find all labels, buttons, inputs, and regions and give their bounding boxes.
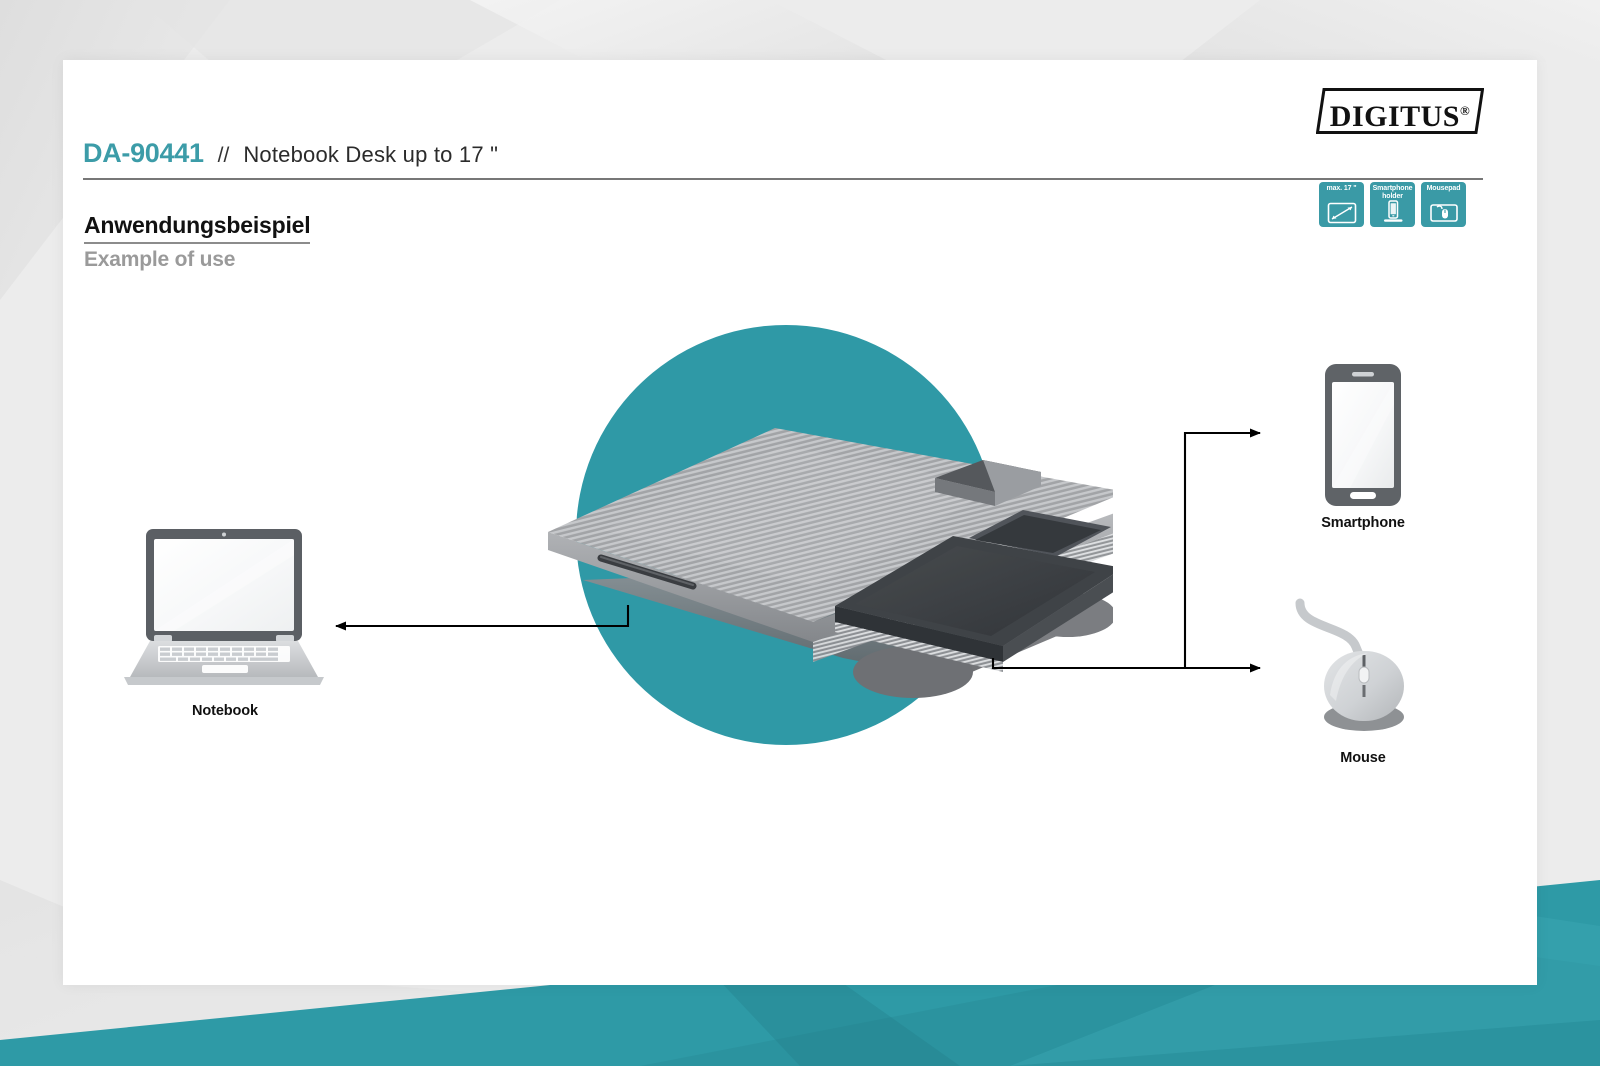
- product-code: DA-90441: [83, 138, 204, 169]
- caption-notebook: Notebook: [110, 703, 340, 719]
- caption-mouse: Mouse: [1278, 750, 1448, 766]
- device-notebook: Notebook: [110, 525, 340, 725]
- smartphone-holder-icon: [1370, 198, 1415, 224]
- section-heading-en: Example of use: [84, 248, 235, 272]
- product-image: [483, 410, 1113, 700]
- bg-facet-top-right: [1180, 0, 1600, 62]
- slide-page: DIGITUS® DA-90441 // Notebook Desk up to…: [0, 0, 1600, 1066]
- smartphone-icon: [1288, 360, 1438, 510]
- logo-text-label: DIGITUS: [1330, 100, 1460, 133]
- title-divider: [83, 178, 1483, 180]
- badge-label-max-17: max. 17 ": [1319, 185, 1364, 193]
- feature-badges: max. 17 " Smartphone holder: [1319, 182, 1466, 227]
- bg-facet-top-middle: [470, 0, 890, 62]
- product-name: Notebook Desk up to 17 ": [243, 142, 498, 168]
- caption-smartphone: Smartphone: [1288, 515, 1438, 531]
- device-mouse: Mouse: [1278, 595, 1448, 785]
- device-smartphone: Smartphone: [1288, 360, 1438, 550]
- connector-to-smartphone: [1185, 433, 1260, 668]
- mousepad-icon: [1421, 198, 1466, 224]
- badge-smartphone-holder: Smartphone holder: [1370, 182, 1415, 227]
- badge-mousepad: Mousepad: [1421, 182, 1466, 227]
- computer-mouse-icon: [1278, 595, 1448, 745]
- laptop-icon: [110, 525, 340, 695]
- logo-wordmark: DIGITUS®: [1316, 96, 1484, 132]
- digitus-logo: DIGITUS®: [1316, 88, 1484, 134]
- section-heading-de: Anwendungsbeispiel: [84, 212, 310, 244]
- title-separator: //: [218, 144, 230, 168]
- content-card: DIGITUS® DA-90441 // Notebook Desk up to…: [63, 60, 1537, 985]
- badge-label-mousepad: Mousepad: [1421, 185, 1466, 193]
- screen-diagonal-icon: [1319, 198, 1364, 224]
- product-title-row: DA-90441 // Notebook Desk up to 17 ": [83, 138, 1483, 169]
- badge-max-17: max. 17 ": [1319, 182, 1364, 227]
- registered-mark-icon: ®: [1460, 103, 1470, 118]
